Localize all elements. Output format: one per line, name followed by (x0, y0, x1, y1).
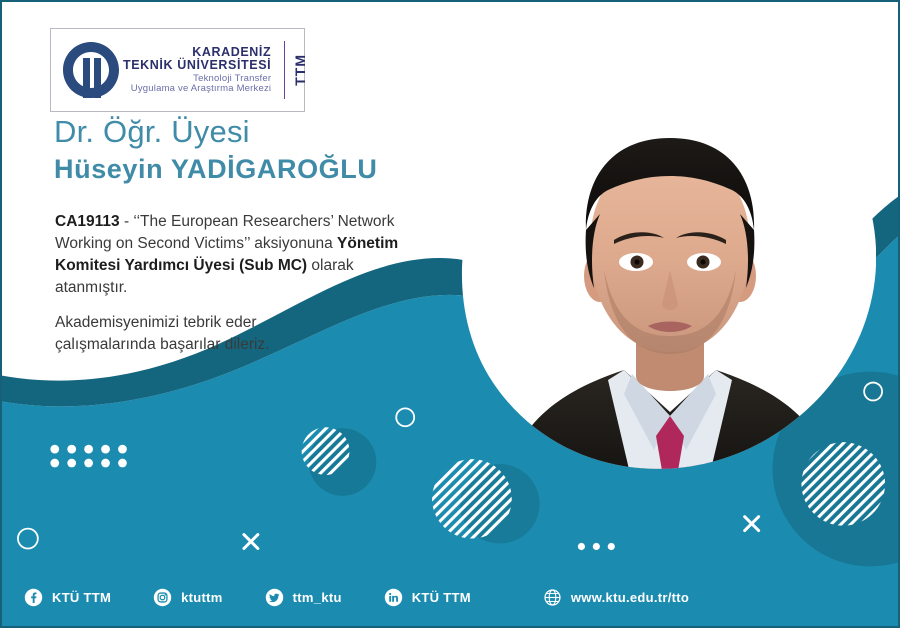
social-website-label: www.ktu.edu.tr/tto (571, 590, 689, 605)
announcement-heading: Dr. Öğr. Üyesi Hüseyin YADİGAROĞLU (54, 115, 434, 185)
instagram-icon (153, 588, 172, 607)
social-facebook[interactable]: KTÜ TTM (24, 588, 111, 607)
ktu-emblem-icon (59, 38, 123, 102)
portrait-illustration (464, 64, 876, 482)
social-facebook-label: KTÜ TTM (52, 590, 111, 605)
social-linkedin[interactable]: KTÜ TTM (384, 588, 471, 607)
announcement-closing: Akademisyenimizi tebrik eder çalışmaları… (55, 312, 385, 357)
logo-line-2: TEKNİK ÜNİVERSİTESİ (123, 59, 271, 72)
announcement-body: CA19113 - ‘‘The European Researchers’ Ne… (55, 211, 425, 299)
logo-divider (284, 41, 285, 99)
social-instagram-label: ktuttm (181, 590, 223, 605)
decor-three-dots (578, 543, 615, 550)
body-dash: - (120, 213, 134, 230)
decor-striped-circle-1 (302, 427, 350, 475)
person-title: Dr. Öğr. Üyesi (54, 115, 434, 150)
action-code: CA19113 (55, 213, 120, 230)
social-twitter[interactable]: ttm_ktu (265, 588, 342, 607)
facebook-icon (24, 588, 43, 607)
social-instagram[interactable]: ktuttm (153, 588, 223, 607)
social-linkedin-label: KTÜ TTM (412, 590, 471, 605)
closing-line-2: çalışmalarında başarılar dileriz. (55, 334, 385, 356)
linkedin-icon (384, 588, 403, 607)
footer-social-bar: KTÜ TTM ktuttm ttm_ktu (2, 568, 898, 626)
ktu-ttm-logo: KARADENİZ TEKNİK ÜNİVERSİTESİ Teknoloji … (50, 28, 305, 112)
person-name: Hüseyin YADİGAROĞLU (54, 153, 434, 185)
social-twitter-label: ttm_ktu (293, 590, 342, 605)
logo-ttm-abbr: TTM (292, 54, 308, 86)
social-website[interactable]: www.ktu.edu.tr/tto (543, 588, 689, 607)
twitter-icon (265, 588, 284, 607)
announcement-poster: KARADENİZ TEKNİK ÜNİVERSİTESİ Teknoloji … (0, 0, 900, 628)
logo-text-block: KARADENİZ TEKNİK ÜNİVERSİTESİ Teknoloji … (123, 46, 277, 94)
body-middle: aksiyonuna (250, 235, 337, 252)
globe-icon (543, 588, 562, 607)
closing-line-1: Akademisyenimizi tebrik eder (55, 312, 385, 334)
portrait-photo (464, 64, 876, 482)
logo-line-4: Uygulama ve Araştırma Merkezi (123, 84, 271, 94)
